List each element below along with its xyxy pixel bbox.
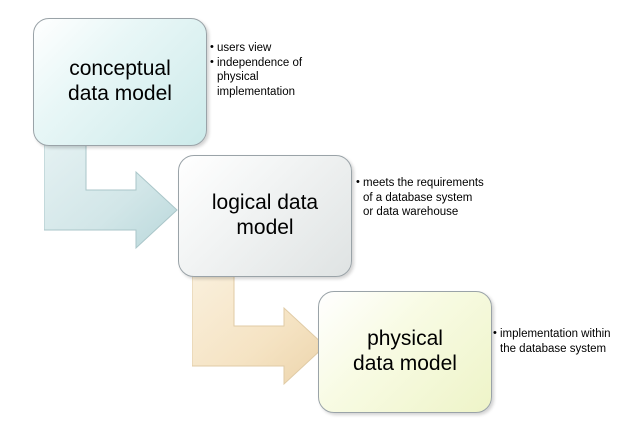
node-physical-label: physical data model <box>343 327 467 377</box>
note-item: independence of physical implementation <box>210 56 338 100</box>
notes-logical: meets the requirements of a database sys… <box>356 176 484 220</box>
notes-conceptual: users view independence of physical impl… <box>210 41 338 100</box>
node-conceptual-data-model[interactable]: conceptual data model <box>33 18 207 146</box>
node-conceptual-label: conceptual data model <box>58 57 182 107</box>
node-logical-data-model[interactable]: logical data model <box>178 155 352 277</box>
diagram-canvas: conceptual data model logical data model… <box>0 0 630 422</box>
note-item: meets the requirements of a database sys… <box>356 176 484 220</box>
notes-physical: implementation within the database syste… <box>493 327 623 356</box>
note-item: users view <box>210 41 338 56</box>
node-logical-label: logical data model <box>202 191 328 241</box>
node-physical-data-model[interactable]: physical data model <box>318 291 492 413</box>
arrow-logical-to-physical <box>192 268 332 391</box>
note-item: implementation within the database syste… <box>493 327 623 356</box>
arrow-conceptual-to-logical <box>44 132 184 255</box>
